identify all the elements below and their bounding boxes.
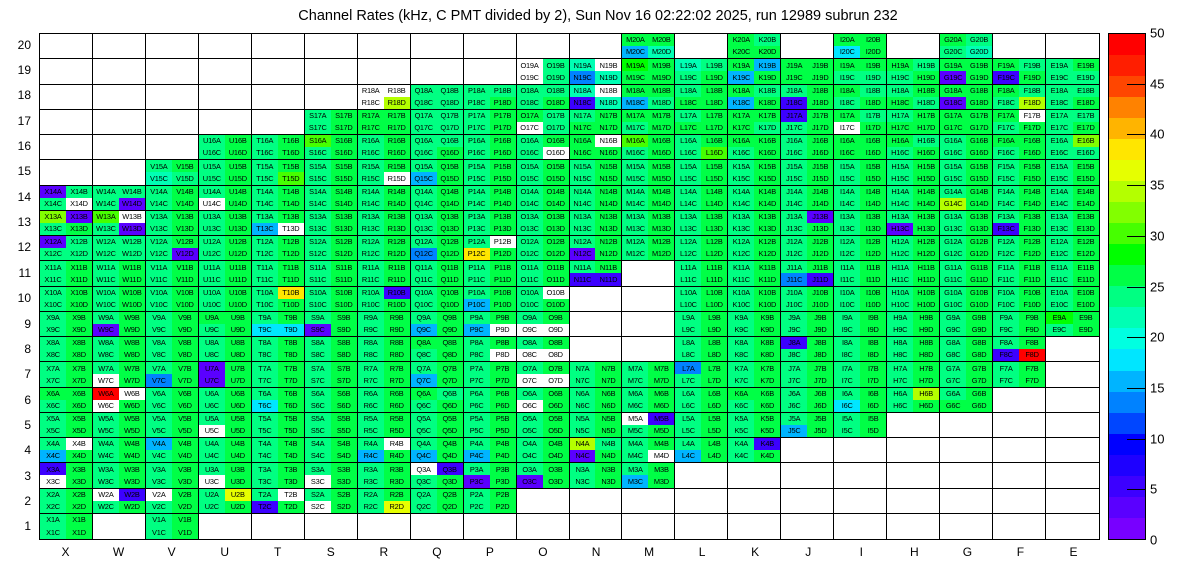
page-title: Channel Rates (kHz, C PMT divided by 2),… — [0, 8, 1196, 24]
channel-I15B: I15B — [860, 160, 886, 172]
channel-P5C: P5C — [464, 425, 490, 437]
x-axis-label-F: F — [994, 545, 1047, 559]
channel-J1B — [807, 514, 833, 527]
channel-E4D — [1073, 450, 1099, 462]
channel-T16B: T16B — [278, 135, 304, 147]
x-axis-label-P: P — [463, 545, 516, 559]
colorbar-band — [1109, 518, 1145, 539]
channel-P5D: P5D — [490, 425, 516, 437]
channel-L17C: L17C — [675, 122, 701, 134]
channel-G12A: G12A — [940, 236, 966, 248]
channel-X11C: X11C — [40, 273, 66, 285]
channel-Q7C: Q7C — [411, 374, 437, 386]
channel-X14B: X14B — [66, 186, 92, 198]
heatmap-cell — [93, 160, 146, 185]
channel-G12C: G12C — [940, 248, 966, 260]
channel-W2A: W2A — [93, 489, 119, 501]
channel-J18C: J18C — [781, 97, 807, 109]
channel-S19C — [305, 71, 331, 83]
heatmap-cell: P15AP15BP15CP15D — [464, 160, 517, 185]
channel-G4B — [966, 438, 992, 450]
channel-R13C: R13C — [358, 223, 384, 235]
channel-J7D: J7D — [807, 374, 833, 386]
channel-K13B: K13B — [754, 211, 780, 223]
channel-L2A — [675, 489, 701, 501]
channel-L3A — [675, 463, 701, 475]
channel-M20A: M20A — [622, 34, 648, 46]
heatmap-cell — [781, 489, 834, 514]
channel-F12D: F12D — [1019, 248, 1045, 260]
channel-F11D: F11D — [1019, 273, 1045, 285]
channel-U19B — [225, 59, 251, 71]
channel-J7B: J7B — [807, 362, 833, 374]
channel-H10A: H10A — [887, 287, 913, 299]
heatmap-cell: K6AK6BK6CK6D — [728, 388, 781, 413]
channel-U18D — [225, 97, 251, 109]
channel-M6B: M6B — [648, 388, 674, 400]
channel-I1C — [834, 526, 860, 539]
channel-R13D: R13D — [384, 223, 410, 235]
channel-I1A — [834, 514, 860, 527]
channel-F17B: F17B — [1019, 110, 1045, 122]
channel-N10C — [570, 299, 596, 311]
channel-E7D — [1073, 374, 1099, 386]
channel-R6D: R6D — [384, 400, 410, 412]
heatmap-cell: F9AF9BF9CF9D — [993, 312, 1046, 337]
channel-U10B: U10B — [225, 287, 251, 299]
channel-I4B — [860, 438, 886, 450]
channel-Q4B: Q4B — [437, 438, 463, 450]
channel-H8B: H8B — [913, 337, 939, 349]
heatmap-cell: V5AV5BV5CV5D — [146, 413, 199, 438]
channel-I18D: I18D — [860, 97, 886, 109]
colorbar-band — [1109, 497, 1145, 518]
channel-I18B: I18B — [860, 85, 886, 97]
channel-L12A: L12A — [675, 236, 701, 248]
heatmap-cell — [252, 34, 305, 59]
channel-V17A — [146, 110, 172, 122]
channel-R15A: R15A — [358, 160, 384, 172]
channel-T10C: T10C — [252, 299, 278, 311]
channel-K11B: K11B — [754, 261, 780, 273]
channel-F13C: F13C — [993, 223, 1019, 235]
channel-F13A: F13A — [993, 211, 1019, 223]
channel-W2B: W2B — [119, 489, 145, 501]
channel-G18A: G18A — [940, 85, 966, 97]
channel-S10B: S10B — [331, 287, 357, 299]
channel-N11B: N11B — [595, 261, 621, 273]
heatmap-cell — [464, 514, 517, 539]
channel-R2C: R2C — [358, 501, 384, 513]
channel-O15A: O15A — [517, 160, 543, 172]
channel-Q1C — [411, 526, 437, 539]
channel-R12A: R12A — [358, 236, 384, 248]
channel-Q14C: Q14C — [411, 198, 437, 210]
channel-W17A — [93, 110, 119, 122]
channel-L18B: L18B — [701, 85, 727, 97]
channel-S15D: S15D — [331, 172, 357, 184]
heatmap-cell: L19AL19BL19CL19D — [675, 59, 728, 84]
channel-H20B — [913, 34, 939, 46]
channel-F5D — [1019, 425, 1045, 437]
colorbar-band — [1109, 413, 1145, 434]
channel-L1A — [675, 514, 701, 527]
channel-F3A — [993, 463, 1019, 475]
heatmap-cell: U8AU8BU8CU8D — [199, 337, 252, 362]
channel-L18A: L18A — [675, 85, 701, 97]
channel-N20A — [570, 34, 596, 46]
heatmap-cell: T9AT9BT9CT9D — [252, 312, 305, 337]
channel-H10D: H10D — [913, 299, 939, 311]
heatmap-cell: U9AU9BU9CU9D — [199, 312, 252, 337]
channel-V4C: V4C — [146, 450, 172, 462]
channel-L11B: L11B — [701, 261, 727, 273]
heatmap-cell: T6AT6BT6CT6D — [252, 388, 305, 413]
channel-M2B — [648, 489, 674, 501]
heatmap-cell: N11AN11BN11CN11D — [570, 261, 623, 286]
channel-R8D: R8D — [384, 349, 410, 361]
channel-J12D: J12D — [807, 248, 833, 260]
channel-K8C: K8C — [728, 349, 754, 361]
channel-E3C — [1046, 475, 1072, 487]
channel-U20B — [225, 34, 251, 46]
channel-N7B: N7B — [595, 362, 621, 374]
channel-H14A: H14A — [887, 186, 913, 198]
channel-N1D — [595, 526, 621, 539]
channel-G1B — [966, 514, 992, 527]
channel-R16A: R16A — [358, 135, 384, 147]
colorbar-band — [1109, 76, 1145, 97]
channel-I7A: I7A — [834, 362, 860, 374]
channel-G5C — [940, 425, 966, 437]
channel-R20D — [384, 46, 410, 58]
heatmap-cell: F12AF12BF12CF12D — [993, 236, 1046, 261]
channel-V15C: V15C — [146, 172, 172, 184]
channel-N10B — [595, 287, 621, 299]
heatmap-cell: J18AJ18BJ18CJ18D — [781, 85, 834, 110]
channel-W4B: W4B — [119, 438, 145, 450]
heatmap-cell: R3AR3BR3CR3D — [358, 463, 411, 488]
channel-V1C: V1C — [146, 526, 172, 539]
channel-R10B: R10B — [384, 287, 410, 299]
channel-S9B: S9B — [331, 312, 357, 324]
channel-S4D: S4D — [331, 450, 357, 462]
channel-F15D: F15D — [1019, 172, 1045, 184]
channel-E7B — [1073, 362, 1099, 374]
channel-L7D: L7D — [701, 374, 727, 386]
channel-P10D: P10D — [490, 299, 516, 311]
channel-E19D: E19D — [1073, 71, 1099, 83]
channel-P17B: P17B — [490, 110, 516, 122]
channel-S6B: S6B — [331, 388, 357, 400]
channel-E2B — [1073, 489, 1099, 501]
colorbar-tick — [1127, 185, 1146, 186]
channel-R5B: R5B — [384, 413, 410, 425]
channel-E18A: E18A — [1046, 85, 1072, 97]
channel-K7C: K7C — [728, 374, 754, 386]
channel-L14A: L14A — [675, 186, 701, 198]
channel-T14A: T14A — [252, 186, 278, 198]
channel-P11B: P11B — [490, 261, 516, 273]
channel-O1D — [543, 526, 569, 539]
channel-I14D: I14D — [860, 198, 886, 210]
channel-J8B: J8B — [807, 337, 833, 349]
heatmap-cell — [252, 85, 305, 110]
heatmap-cell: P14AP14BP14CP14D — [464, 186, 517, 211]
channel-I13C: I13C — [834, 223, 860, 235]
colorbar-tick — [1127, 489, 1146, 490]
channel-U9A: U9A — [199, 312, 225, 324]
x-axis-label-L: L — [676, 545, 729, 559]
channel-K20C: K20C — [728, 46, 754, 58]
heatmap-cell: P6AP6BP6CP6D — [464, 388, 517, 413]
channel-U18B — [225, 85, 251, 97]
channel-G20B: G20B — [966, 34, 992, 46]
channel-S13A: S13A — [305, 211, 331, 223]
channel-T18D — [278, 97, 304, 109]
channel-J16D: J16D — [807, 147, 833, 159]
heatmap-cell: Q5AQ5BQ5CQ5D — [411, 413, 464, 438]
channel-O14C: O14C — [517, 198, 543, 210]
channel-P12C: P12C — [464, 248, 490, 260]
channel-E16D: E16D — [1073, 147, 1099, 159]
channel-E4A — [1046, 438, 1072, 450]
heatmap-cell: W3AW3BW3CW3D — [93, 463, 146, 488]
channel-S11A: S11A — [305, 261, 331, 273]
channel-S3C: S3C — [305, 475, 331, 487]
channel-X15D — [66, 172, 92, 184]
heatmap-cell: F15AF15BF15CF15D — [993, 160, 1046, 185]
heatmap-cell — [305, 85, 358, 110]
channel-G7B: G7B — [966, 362, 992, 374]
heatmap-cell: O15AO15BO15CO15D — [517, 160, 570, 185]
channel-E15C: E15C — [1046, 172, 1072, 184]
channel-W10A: W10A — [93, 287, 119, 299]
channel-T7C: T7C — [252, 374, 278, 386]
heatmap-cell: Q18AQ18BQ18CQ18D — [411, 85, 464, 110]
channel-F20A — [993, 34, 1019, 46]
channel-M20B: M20B — [648, 34, 674, 46]
channel-I14B: I14B — [860, 186, 886, 198]
channel-I2C — [834, 501, 860, 513]
heatmap-cell: Q13AQ13BQ13CQ13D — [411, 211, 464, 236]
channel-V2D: V2D — [172, 501, 198, 513]
channel-G4C — [940, 450, 966, 462]
channel-T9D: T9D — [278, 324, 304, 336]
channel-P12B: P12B — [490, 236, 516, 248]
channel-T12A: T12A — [252, 236, 278, 248]
heatmap-cell: U12AU12BU12CU12D — [199, 236, 252, 261]
channel-O15B: O15B — [543, 160, 569, 172]
channel-N5A: N5A — [570, 413, 596, 425]
channel-T2A: T2A — [252, 489, 278, 501]
colorbar-tick — [1127, 439, 1146, 440]
channel-U7D: U7D — [225, 374, 251, 386]
channel-E3B — [1073, 463, 1099, 475]
heatmap-cell: N3AN3BN3CN3D — [570, 463, 623, 488]
channel-X4D: X4D — [66, 450, 92, 462]
channel-E15A: E15A — [1046, 160, 1072, 172]
channel-L19C: L19C — [675, 71, 701, 83]
channel-M17B: M17B — [648, 110, 674, 122]
channel-K12D: K12D — [754, 248, 780, 260]
channel-J8D: J8D — [807, 349, 833, 361]
channel-W15D — [119, 172, 145, 184]
channel-I8C: I8C — [834, 349, 860, 361]
channel-Q3C: Q3C — [411, 475, 437, 487]
channel-H17A: H17A — [887, 110, 913, 122]
channel-E1A — [1046, 514, 1072, 527]
channel-M14A: M14A — [622, 186, 648, 198]
channel-S4A: S4A — [305, 438, 331, 450]
channel-H5A — [887, 413, 913, 425]
channel-K19D: K19D — [754, 71, 780, 83]
channel-J11B: J11B — [807, 261, 833, 273]
channel-N1A — [570, 514, 596, 527]
heatmap-cell: F8AF8BF8CF8D — [993, 337, 1046, 362]
channel-J10D: J10D — [807, 299, 833, 311]
channel-W1B — [119, 514, 145, 527]
channel-E11B: E11B — [1073, 261, 1099, 273]
channel-W20C — [93, 46, 119, 58]
heatmap-cell: G10AG10BG10CG10D — [940, 287, 993, 312]
heatmap-cell: Q12AQ12BQ12CQ12D — [411, 236, 464, 261]
channel-I9C: I9C — [834, 324, 860, 336]
channel-N15A: N15A — [570, 160, 596, 172]
channel-U19C — [199, 71, 225, 83]
channel-S5A: S5A — [305, 413, 331, 425]
channel-V20C — [146, 46, 172, 58]
channel-J6A: J6A — [781, 388, 807, 400]
channel-L4A: L4A — [675, 438, 701, 450]
channel-I14A: I14A — [834, 186, 860, 198]
channel-I11D: I11D — [860, 273, 886, 285]
channel-P19B — [490, 59, 516, 71]
heatmap-cell — [622, 312, 675, 337]
channel-R9A: R9A — [358, 312, 384, 324]
channel-T14C: T14C — [252, 198, 278, 210]
channel-S6D: S6D — [331, 400, 357, 412]
channel-S7D: S7D — [331, 374, 357, 386]
channel-T7B: T7B — [278, 362, 304, 374]
heatmap-cell — [40, 135, 93, 160]
channel-L3D — [701, 475, 727, 487]
channel-I5A: I5A — [834, 413, 860, 425]
channel-V14D: V14D — [172, 198, 198, 210]
channel-L6C: L6C — [675, 400, 701, 412]
channel-U11C: U11C — [199, 273, 225, 285]
channel-P9A: P9A — [464, 312, 490, 324]
channel-F1A — [993, 514, 1019, 527]
channel-O14B: O14B — [543, 186, 569, 198]
heatmap-cell: T14AT14BT14CT14D — [252, 186, 305, 211]
heatmap-cell: P2AP2BP2CP2D — [464, 489, 517, 514]
heatmap-cell: U10AU10BU10CU10D — [199, 287, 252, 312]
channel-V6A: V6A — [146, 388, 172, 400]
channel-R19D — [384, 71, 410, 83]
channel-U14C: U14C — [199, 198, 225, 210]
channel-V3B: V3B — [172, 463, 198, 475]
channel-F1D — [1019, 526, 1045, 539]
channel-T13B: T13B — [278, 211, 304, 223]
channel-O4A: O4A — [517, 438, 543, 450]
heatmap-cell — [570, 34, 623, 59]
channel-R18C: R18C — [358, 97, 384, 109]
channel-U18C — [199, 97, 225, 109]
channel-E7C — [1046, 374, 1072, 386]
channel-R13B: R13B — [384, 211, 410, 223]
channel-S5D: S5D — [331, 425, 357, 437]
channel-Q10D: Q10D — [437, 299, 463, 311]
channel-T6C: T6C — [252, 400, 278, 412]
channel-S5B: S5B — [331, 413, 357, 425]
heatmap-cell: M5AM5BM5CM5D — [622, 413, 675, 438]
channel-Q19D — [437, 71, 463, 83]
channel-J19C: J19C — [781, 71, 807, 83]
channel-J19A: J19A — [781, 59, 807, 71]
channel-R5C: R5C — [358, 425, 384, 437]
heatmap-cell: R12AR12BR12CR12D — [358, 236, 411, 261]
channel-G18C: G18C — [940, 97, 966, 109]
channel-G14A: G14A — [940, 186, 966, 198]
heatmap-cell — [40, 34, 93, 59]
channel-W20A — [93, 34, 119, 46]
channel-X14A: X14A — [40, 186, 66, 198]
channel-P5A: P5A — [464, 413, 490, 425]
channel-E20A — [1046, 34, 1072, 46]
channel-L10B: L10B — [701, 287, 727, 299]
channel-H19C: H19C — [887, 71, 913, 83]
channel-Q15D: Q15D — [437, 172, 463, 184]
channel-W17D — [119, 122, 145, 134]
heatmap-cell: T3AT3BT3CT3D — [252, 463, 305, 488]
colorbar-tick-label-35: 35 — [1150, 178, 1164, 193]
channel-I5B: I5B — [860, 413, 886, 425]
channel-Q16D: Q16D — [437, 147, 463, 159]
channel-Q7B: Q7B — [437, 362, 463, 374]
channel-V17C — [146, 122, 172, 134]
channel-G2D — [966, 501, 992, 513]
channel-T16A: T16A — [252, 135, 278, 147]
channel-X5D: X5D — [66, 425, 92, 437]
channel-K9C: K9C — [728, 324, 754, 336]
channel-F2C — [993, 501, 1019, 513]
channel-M16B: M16B — [648, 135, 674, 147]
channel-K15C: K15C — [728, 172, 754, 184]
heatmap-cell: I17AI17BI17CI17D — [834, 110, 887, 135]
channel-O16D: O16D — [543, 147, 569, 159]
channel-F1C — [993, 526, 1019, 539]
heatmap-cell — [93, 135, 146, 160]
channel-E11C: E11C — [1046, 273, 1072, 285]
channel-O5C: O5C — [517, 425, 543, 437]
channel-N19B: N19B — [595, 59, 621, 71]
heatmap-cell: P5AP5BP5CP5D — [464, 413, 517, 438]
channel-J2A — [781, 489, 807, 501]
channel-X7C: X7C — [40, 374, 66, 386]
channel-K19B: K19B — [754, 59, 780, 71]
heatmap-cell: V7AV7BV7CV7D — [146, 362, 199, 387]
channel-O10D: O10D — [543, 299, 569, 311]
channel-O11B: O11B — [543, 261, 569, 273]
channel-W2D: W2D — [119, 501, 145, 513]
heatmap-cell: R16AR16BR16CR16D — [358, 135, 411, 160]
channel-G10A: G10A — [940, 287, 966, 299]
channel-N11D: N11D — [595, 273, 621, 285]
heatmap-cell — [675, 489, 728, 514]
heatmap-cell: P8AP8BP8CP8D — [464, 337, 517, 362]
x-axis-label-T: T — [251, 545, 304, 559]
